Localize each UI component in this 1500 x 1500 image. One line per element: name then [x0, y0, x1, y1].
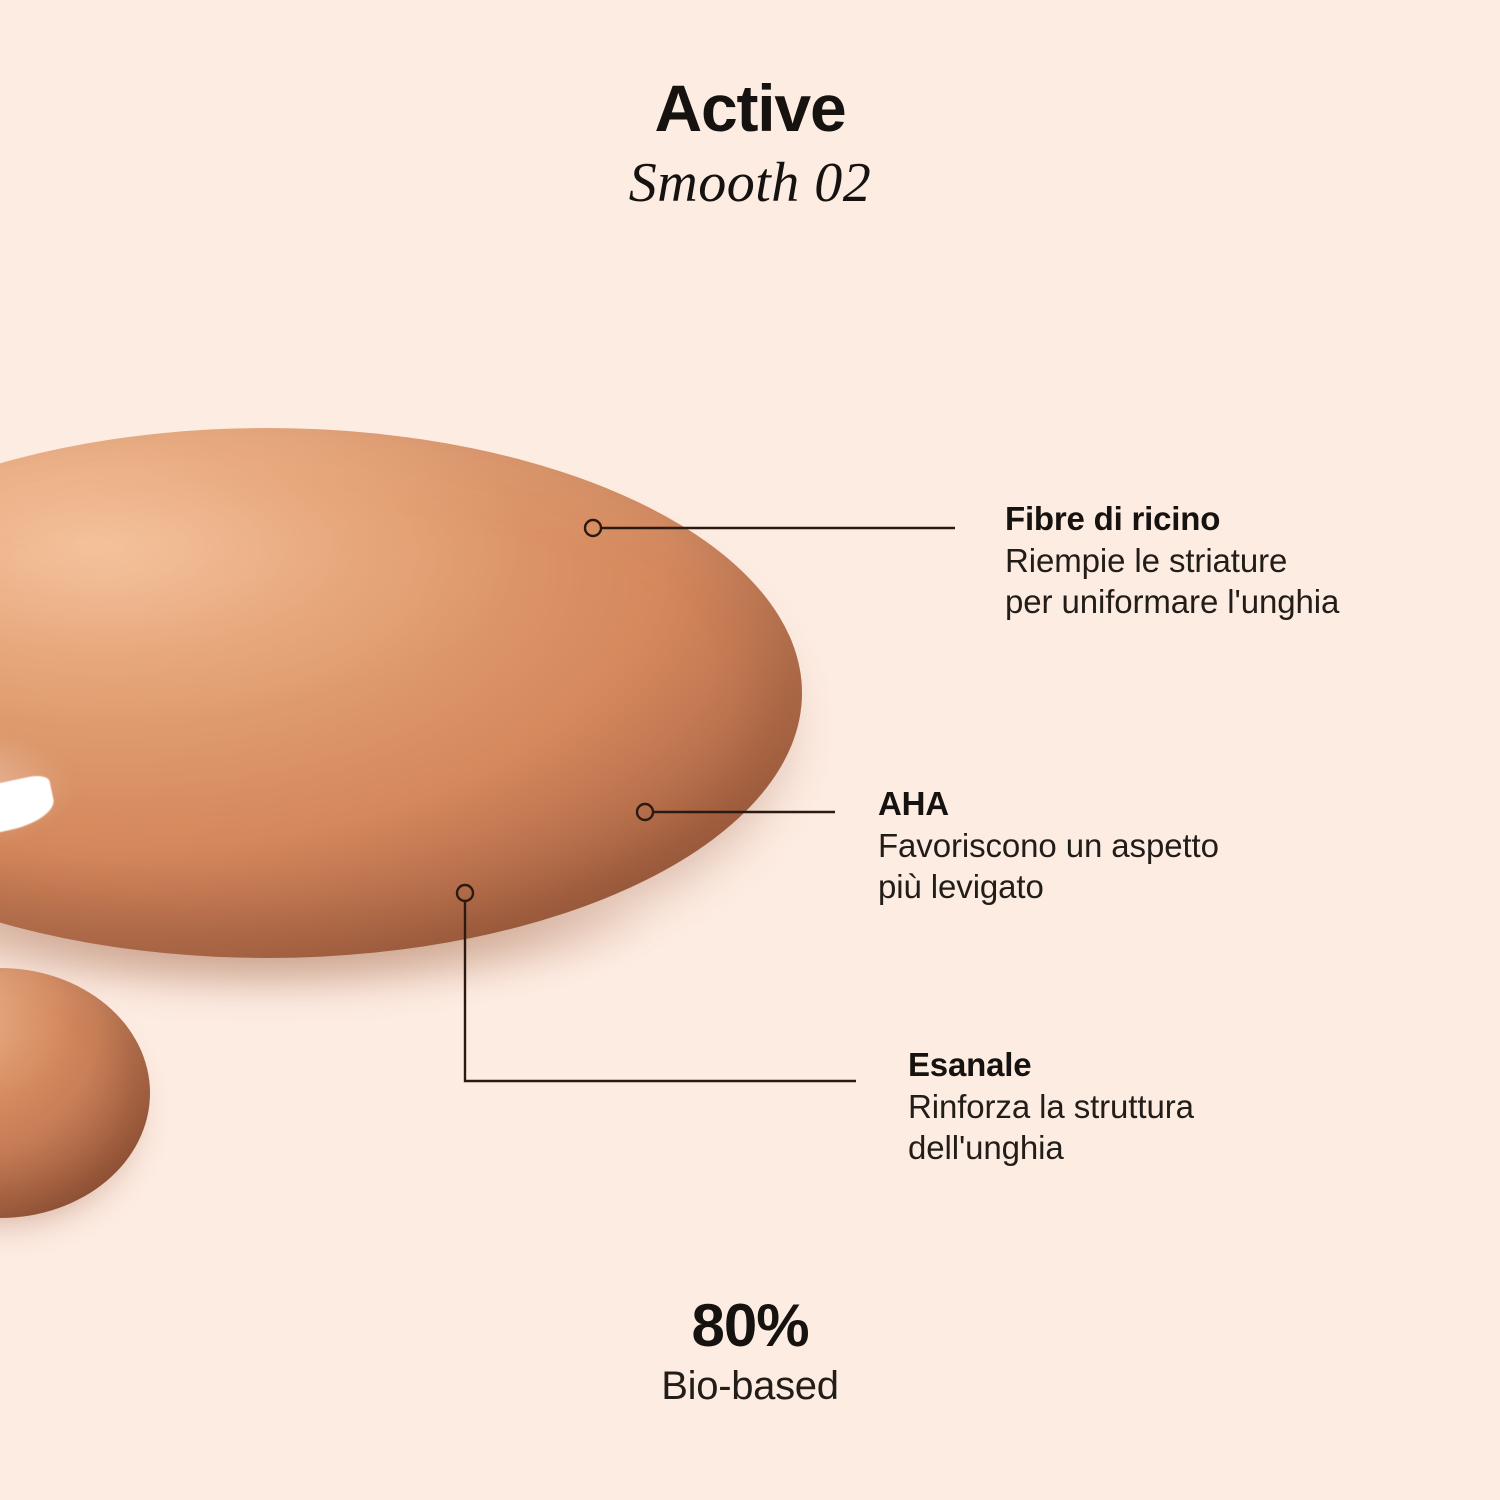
callout-esanale: Esanale Rinforza la struttura dell'unghi…	[908, 1044, 1194, 1169]
callout-line: Favoriscono un aspetto	[878, 825, 1219, 867]
leader-dot-aha	[637, 804, 653, 820]
leader-line-esanale	[465, 901, 856, 1081]
callout-line: Riempie le striature	[1005, 540, 1339, 582]
leader-dot-esanale	[457, 885, 473, 901]
callout-line: Rinforza la struttura	[908, 1086, 1194, 1128]
callout-title: Fibre di ricino	[1005, 498, 1339, 540]
bio-based-value: 80%	[0, 1294, 1500, 1358]
callout-title: Esanale	[908, 1044, 1194, 1086]
callout-line: per uniformare l'unghia	[1005, 581, 1339, 623]
callout-aha: AHA Favoriscono un aspetto più levigato	[878, 783, 1219, 908]
callout-line: dell'unghia	[908, 1127, 1194, 1169]
composition-canvas: Active Smooth 02 Fibre di ricino Riempie…	[0, 0, 1500, 1500]
callout-title: AHA	[878, 783, 1219, 825]
callout-line: più levigato	[878, 866, 1219, 908]
callout-fibre-di-ricino: Fibre di ricino Riempie le striature per…	[1005, 498, 1339, 623]
bio-based-label: Bio-based	[0, 1362, 1500, 1410]
leader-lines-group	[0, 0, 1500, 1500]
bio-based-stat: 80% Bio-based	[0, 1294, 1500, 1410]
leader-dot-fibre-di-ricino	[585, 520, 601, 536]
